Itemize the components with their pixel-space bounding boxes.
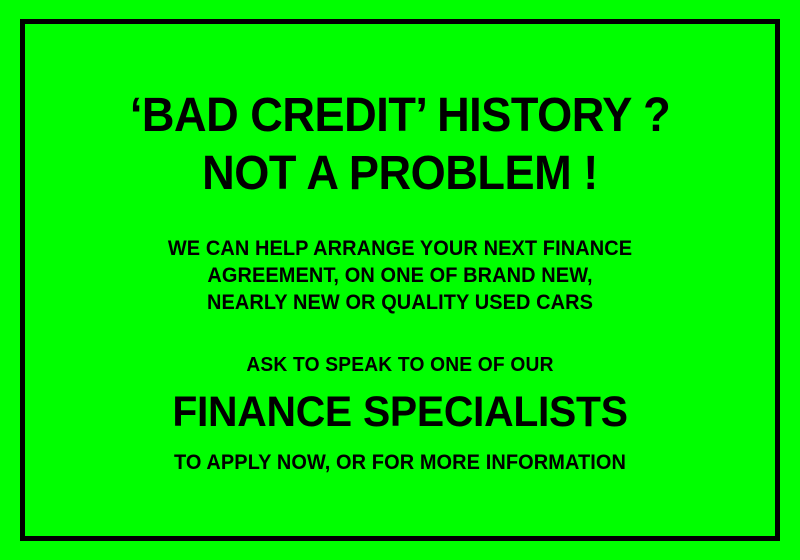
body-line-3: NEARLY NEW OR QUALITY USED CARS xyxy=(20,292,780,313)
body-text-block: WE CAN HELP ARRANGE YOUR NEXT FINANCE AG… xyxy=(0,238,800,319)
headline-line-2: NOT A PROBLEM ! xyxy=(24,150,776,198)
cta-headline-text: FINANCE SPECIALISTS xyxy=(20,391,780,434)
cta-kicker-text: ASK TO SPEAK TO ONE OF OUR xyxy=(16,355,784,375)
body-line-1: WE CAN HELP ARRANGE YOUR NEXT FINANCE xyxy=(20,238,780,259)
poster-content: ‘BAD CREDIT’ HISTORY ? NOT A PROBLEM ! W… xyxy=(0,0,800,560)
body-line-2: AGREEMENT, ON ONE OF BRAND NEW, xyxy=(20,265,780,286)
headline-line-1: ‘BAD CREDIT’ HISTORY ? xyxy=(24,92,776,140)
cta-footer-text: TO APPLY NOW, OR FOR MORE INFORMATION xyxy=(20,452,780,473)
poster-canvas: ‘BAD CREDIT’ HISTORY ? NOT A PROBLEM ! W… xyxy=(0,0,800,560)
headline-block: ‘BAD CREDIT’ HISTORY ? NOT A PROBLEM ! xyxy=(0,92,800,208)
call-to-action-block: ASK TO SPEAK TO ONE OF OUR FINANCE SPECI… xyxy=(0,355,800,473)
